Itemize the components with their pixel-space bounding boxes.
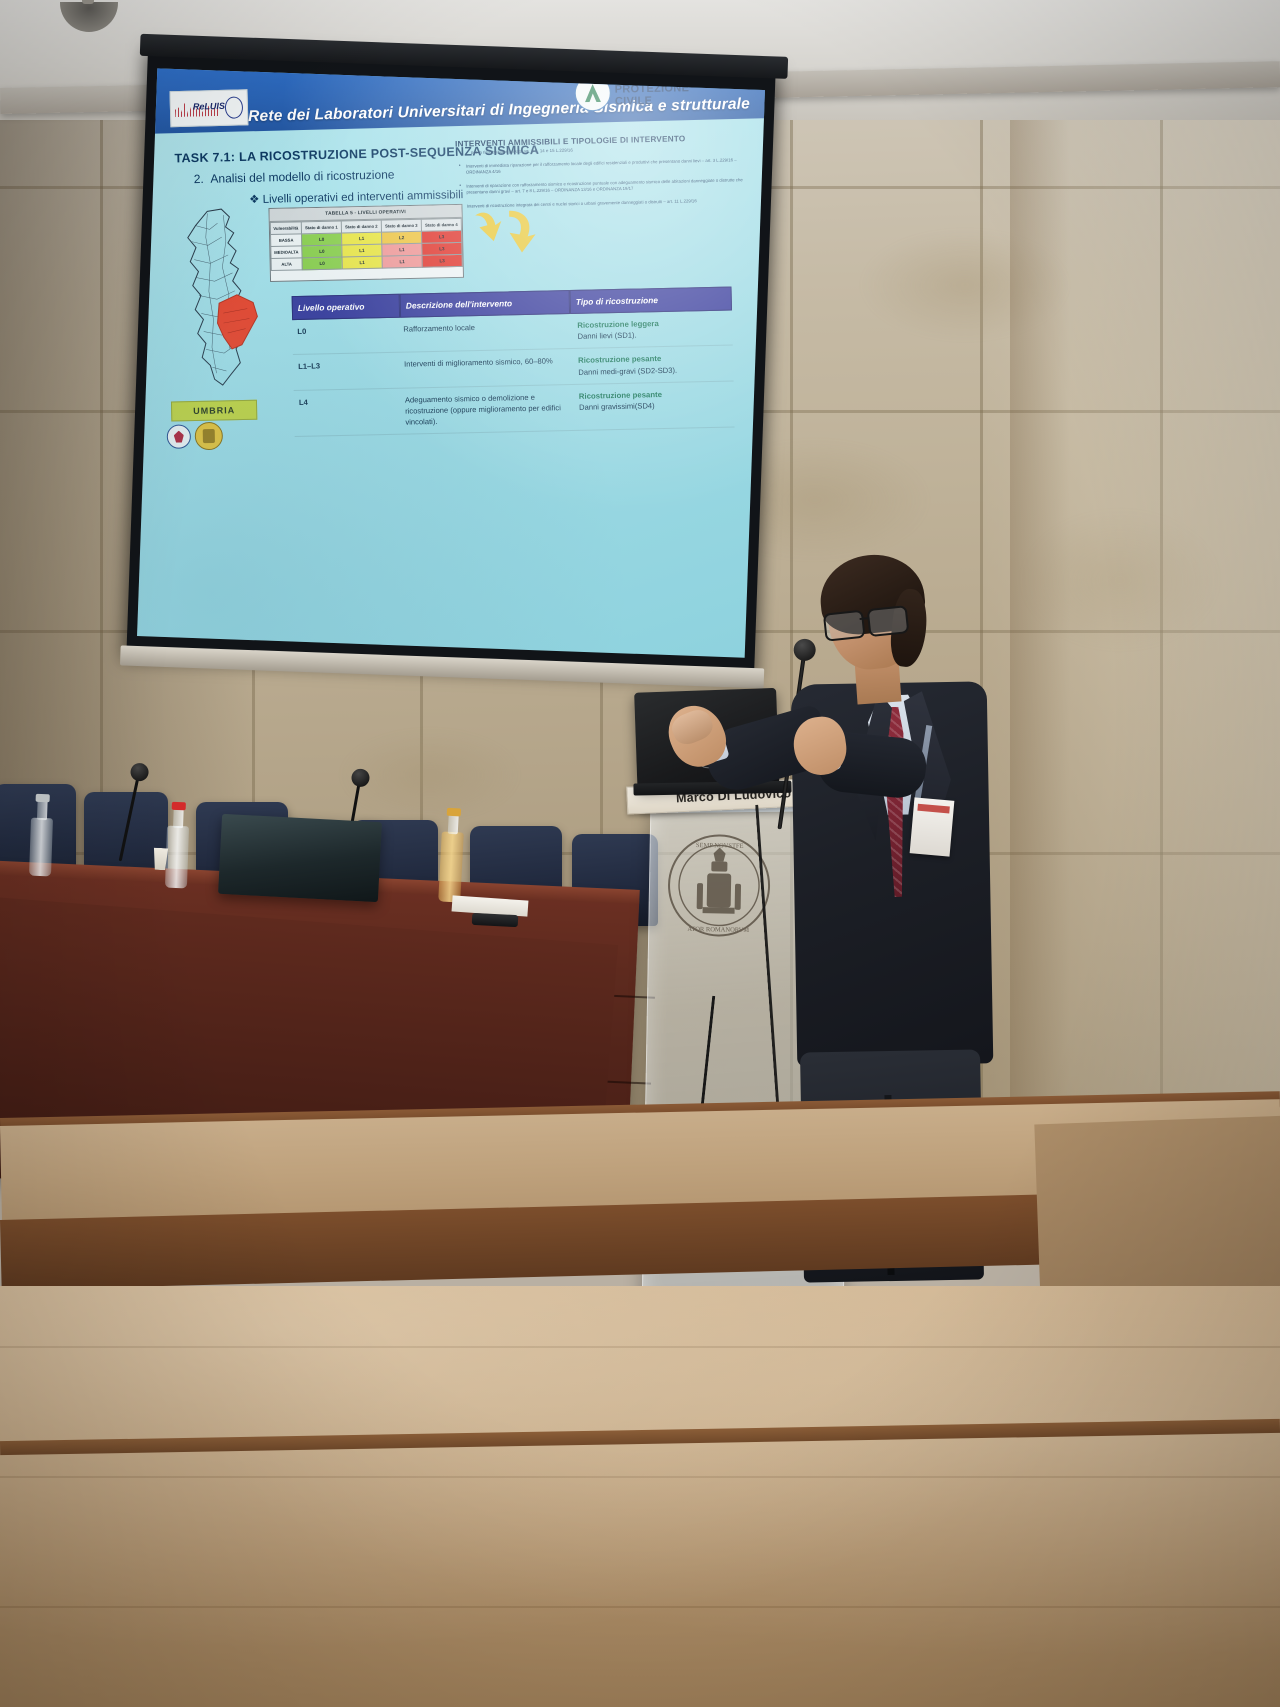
floor-light-reflection (0, 1286, 1280, 1707)
water-bottle (29, 818, 53, 877)
presenter-remote (472, 913, 519, 927)
row-0-level: L0 (292, 318, 399, 355)
dpc-logo-line1: DIPARTIMENTO DELLA (614, 74, 681, 81)
protezione-civile-seal-icon (574, 75, 611, 112)
levels-row-2-label: ALTA (271, 258, 302, 271)
water-bottle (165, 826, 189, 889)
levels-row-2-cell-1: L1 (342, 256, 382, 269)
row-2-level: L4 (294, 388, 401, 435)
screen-frame: ReLUIS Rete dei Laboratori Universitari … (127, 50, 776, 672)
curved-arrow-icon (469, 206, 540, 264)
row-0-type-detail: Danni lievi (SD1). (577, 328, 727, 342)
interventions-header-2: Tipo di ricostruzione (570, 286, 732, 314)
levels-row-0-label: BASSA (271, 234, 302, 247)
levels-row-1-label: MEDIOALTA (271, 246, 302, 259)
levels-matrix-table: TABELLA 5 - LIVELLI OPERATIVI Vulnerabil… (268, 204, 464, 282)
levels-row-2-cell-3: L3 (422, 254, 462, 267)
levels-col-3: Stato di danno 3 (381, 219, 421, 232)
reluis-logo-icon: ReLUIS (170, 89, 249, 127)
levels-row-0-cell-0: L0 (301, 233, 341, 246)
reluis-logo-text: ReLUIS (193, 101, 225, 112)
levels-col-4: Stato di danno 4 (421, 218, 461, 231)
speaker-badge (910, 797, 955, 856)
levels-col-0: Vulnerabilità (270, 222, 301, 235)
italy-map-graphic (169, 206, 285, 396)
row-0-description: Rafforzamento locale (398, 314, 573, 352)
row-1-type: Ricostruzione pesante Danni medi-gravi (… (573, 346, 734, 384)
dpc-logo-line2: PROTEZIONE CIVILE (615, 81, 725, 107)
levels-row-1-cell-3: L3 (422, 242, 462, 255)
institution-shield-icon (167, 424, 191, 448)
row-2-description: Adeguamento sismico o demolizione e rico… (400, 385, 575, 434)
levels-row-0-cell-2: L2 (381, 231, 421, 244)
levels-row-0-cell-1: L1 (341, 232, 381, 245)
panel-monitor (218, 814, 382, 902)
table-row: L4 Adeguamento sismico o demolizione e r… (294, 381, 735, 437)
umbria-region-tag: UMBRIA (171, 400, 257, 422)
water-bottle (438, 831, 464, 902)
laptop-base (633, 781, 791, 796)
levels-row-1-cell-2: L1 (382, 243, 422, 256)
svg-text:ATOR ROMANORVM: ATOR ROMANORVM (687, 926, 749, 934)
university-federico-ii-seal-icon: SEMP NOVSTFE ATOR ROMANORVM (666, 833, 772, 939)
row-2-type-detail: Danni gravissimi(SD4) (579, 398, 729, 412)
row-1-description: Interventi di miglioramento sismico, 60–… (399, 349, 574, 387)
interventions-table: Livello operativo Descrizione dell'inter… (292, 286, 735, 436)
right-bullet-1: Interventi di immediata riparazione per … (459, 157, 749, 177)
levels-col-1: Stato di danno 1 (301, 221, 341, 234)
levels-row-2-cell-0: L0 (302, 257, 342, 270)
wall-shade-right (980, 110, 1280, 1170)
interventions-header-0: Livello operativo (292, 294, 400, 320)
projection-screen: ReLUIS Rete dei Laboratori Universitari … (126, 50, 776, 692)
svg-text:SEMP NOVSTFE: SEMP NOVSTFE (696, 842, 744, 850)
umbria-label: UMBRIA (193, 405, 235, 416)
presentation-slide: ReLUIS Rete dei Laboratori Universitari … (137, 68, 765, 657)
row-1-level: L1–L3 (293, 353, 400, 390)
conference-photo-scene: ReLUIS Rete dei Laboratori Universitari … (0, 0, 1280, 1707)
row-2-type: Ricostruzione pesante Danni gravissimi(S… (574, 381, 735, 429)
right-bullet-2: Interventi di riparazione con rafforzame… (459, 177, 749, 197)
levels-col-2: Stato di danno 2 (341, 220, 381, 233)
levels-row-1-cell-1: L1 (342, 244, 382, 257)
university-seal-icon (195, 422, 224, 451)
levels-row-0-cell-3: L3 (421, 230, 461, 243)
levels-row-1-cell-0: L0 (302, 245, 342, 258)
levels-row-2-cell-2: L1 (382, 255, 422, 268)
row-0-type: Ricostruzione leggera Danni lievi (SD1). (572, 310, 733, 348)
slide-section-number: 2. (194, 172, 204, 186)
slide-section-text: Analisi del modello di ricostruzione (210, 167, 394, 185)
reluis-logo-ring-icon (225, 96, 244, 118)
